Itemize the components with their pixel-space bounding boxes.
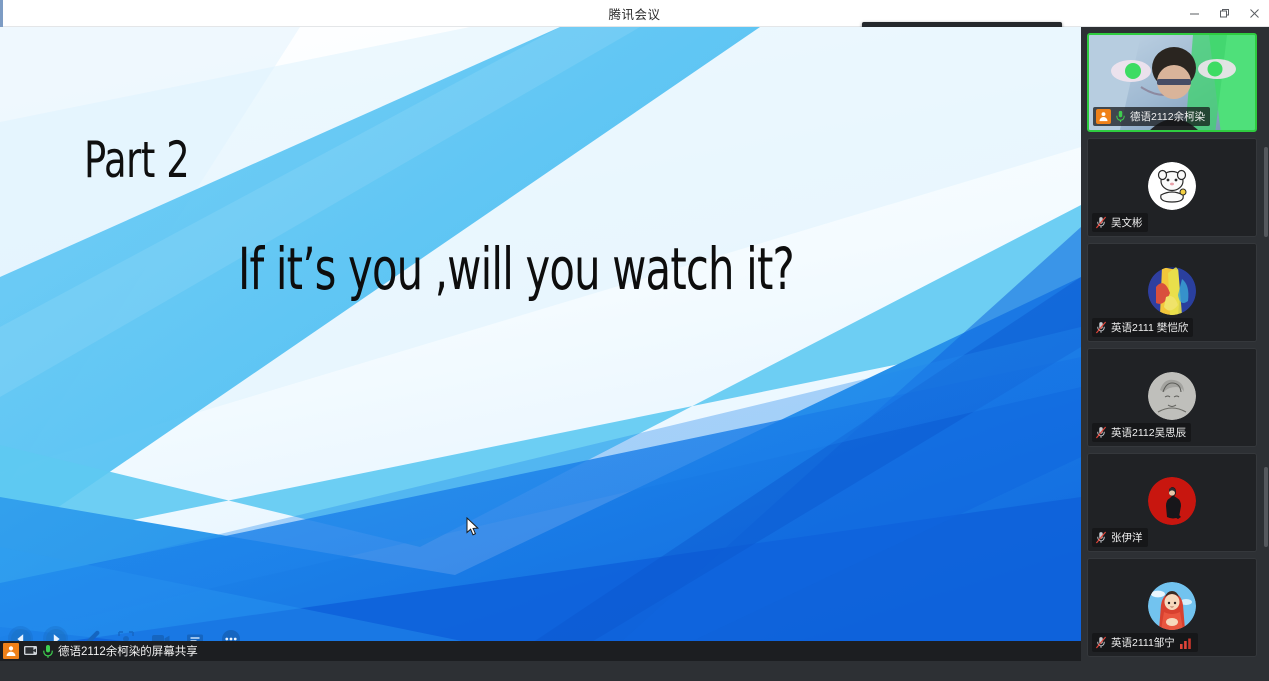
panel-scrollbar[interactable]	[1264, 147, 1268, 237]
slide-background-graphic	[0, 27, 1081, 661]
slide-subtitle: If it’s you ,will you watch it?	[238, 235, 794, 303]
participant-nametag: 吴文彬	[1092, 213, 1148, 232]
mic-on-icon	[1115, 110, 1126, 123]
share-status-bar: 德语2112余柯染的屏幕共享	[0, 641, 1081, 661]
tencent-meeting-window: 腾讯会议	[0, 0, 1269, 681]
mic-muted-icon	[1095, 636, 1107, 649]
participant-tile[interactable]: 张伊洋	[1087, 453, 1257, 552]
mic-muted-icon	[1095, 321, 1107, 334]
screen-share-person-icon	[3, 643, 19, 659]
mic-muted-icon	[1095, 216, 1107, 229]
participant-name: 英语2111邹宁	[1111, 635, 1175, 650]
participant-nametag: 德语2112余柯染	[1093, 107, 1210, 126]
restore-icon[interactable]	[1209, 0, 1239, 27]
participant-nametag: 张伊洋	[1092, 528, 1148, 547]
avatar	[1148, 582, 1196, 630]
avatar	[1148, 477, 1196, 525]
participant-tile[interactable]: 英语2111 樊恺欣	[1087, 243, 1257, 342]
panel-scrollbar[interactable]	[1264, 467, 1268, 547]
participant-nametag: 英语2111邹宁	[1092, 633, 1198, 652]
mic-muted-icon	[1095, 531, 1107, 544]
presentation-slide: Part 2 If it’s you ,will you watch it?	[0, 27, 1081, 661]
slide-title: Part 2	[84, 131, 189, 189]
participant-nametag: 英语2111 樊恺欣	[1092, 318, 1193, 337]
share-status-label: 德语2112余柯染的屏幕共享	[58, 643, 198, 659]
participant-tile[interactable]: 德语2112余柯染	[1087, 33, 1257, 132]
participant-name: 英语2112吴思辰	[1111, 425, 1186, 440]
page-title: 腾讯会议	[608, 4, 660, 23]
participants-panel[interactable]: 德语2112余柯染	[1081, 27, 1269, 681]
close-icon[interactable]	[1239, 0, 1269, 27]
participant-tile[interactable]: 英语2112吴思辰	[1087, 348, 1257, 447]
monitor-icon	[23, 644, 38, 658]
signal-bars-icon	[1179, 637, 1193, 649]
avatar	[1148, 267, 1196, 315]
participant-name: 张伊洋	[1111, 530, 1143, 545]
avatar	[1148, 372, 1196, 420]
participant-tile[interactable]: 英语2111邹宁	[1087, 558, 1257, 657]
shared-screen-area[interactable]: Part 2 If it’s you ,will you watch it?	[0, 27, 1081, 661]
mic-on-icon	[42, 644, 54, 659]
participant-tile[interactable]: 吴文彬	[1087, 138, 1257, 237]
participant-name: 吴文彬	[1111, 215, 1143, 230]
participant-nametag: 英语2112吴思辰	[1092, 423, 1191, 442]
screen-share-person-icon	[1096, 109, 1111, 124]
title-bar: 腾讯会议	[0, 0, 1269, 27]
window-left-edge	[0, 0, 3, 27]
window-controls	[1179, 0, 1269, 27]
avatar	[1148, 162, 1196, 210]
mic-muted-icon	[1095, 426, 1107, 439]
participant-name: 德语2112余柯染	[1130, 109, 1205, 124]
minimize-icon[interactable]	[1179, 0, 1209, 27]
participant-name: 英语2111 樊恺欣	[1111, 320, 1188, 335]
